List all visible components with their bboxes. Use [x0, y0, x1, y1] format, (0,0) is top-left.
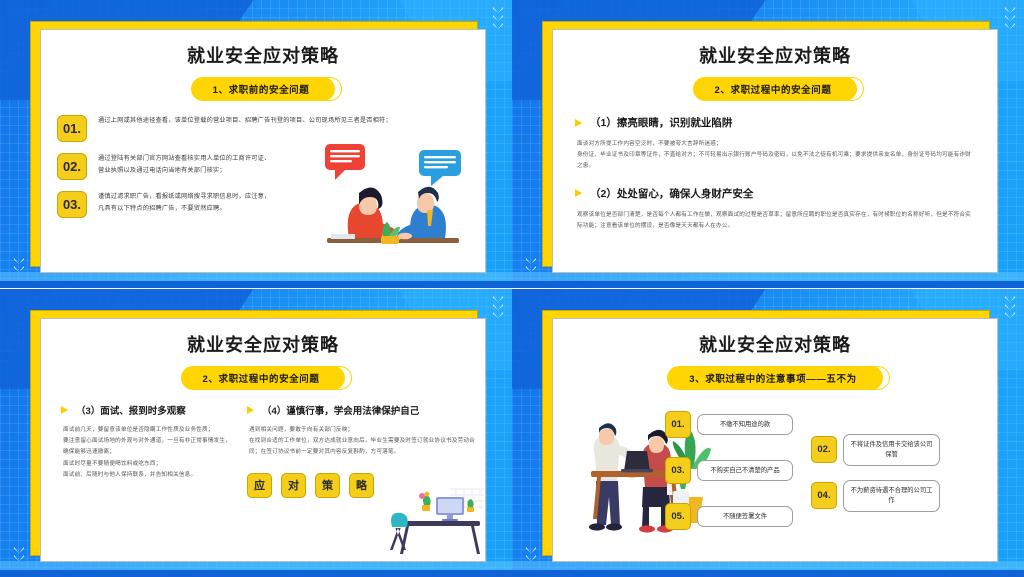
bullet-body: 观察该单位是否部门清楚，是否每个人都有工作在做，观察面试的过程是否草率；留意所应… — [577, 210, 973, 232]
chevron-down-icon — [526, 258, 536, 264]
item-number-badge: 02. — [57, 153, 87, 180]
chevron-down-icon — [493, 296, 503, 302]
char-box: 略 — [349, 473, 374, 498]
chevron-group-bottom-left — [14, 547, 24, 561]
background-band — [512, 281, 1024, 288]
item-text: 不将证件及信用卡交给该公司保管 — [843, 434, 940, 466]
item-number-badge: 01. — [665, 411, 691, 438]
two-column-layout: （3）面试、报到时多观察 面试前几天，要留意该单位是否隐瞒工作性质及业务性质； … — [61, 403, 485, 498]
item-text: 谨慎过滤求职广告，看报纸或网络搜寻求职信息时，应注意，凡具有以下特点的招聘广告，… — [98, 191, 273, 215]
bullet-heading-text: （1）擦亮眼睛，识别就业陷阱 — [590, 115, 732, 130]
bullet-body: 面试前几天，要留意该单位是否隐瞒工作性质及业务性质； 要注意留心面试场地的外观与… — [63, 425, 233, 481]
section-pill-wrap: 3、求职过程中的注意事项——五不为 — [553, 366, 997, 390]
char-box: 策 — [315, 473, 340, 498]
background-band-light — [512, 272, 1024, 281]
bullet-heading: （3）面试、报到时多观察 — [61, 403, 233, 417]
bullet-body: 面谈对方所提工作内容空泛时，不要被夸大言辞所迷惑； 身份证、毕业证书及印章等证件… — [577, 139, 973, 173]
chevron-down-icon — [14, 547, 24, 553]
background-band — [512, 570, 1024, 577]
triangle-bullet-icon — [61, 406, 68, 414]
chevron-down-icon — [526, 266, 536, 272]
bullet-heading: （1）擦亮眼睛，识别就业陷阱 — [575, 115, 997, 130]
section-badge: 1、求职前的安全问题 — [191, 77, 336, 101]
slide-card: 就业安全应对策略 2、求职过程中的安全问题 （3）面试、报到时多观察 面试前几天… — [40, 318, 486, 562]
item-text: 通过上网或其他途径查看，该单位登载的营业项目、招聘广告刊登的项目、公司现场所见三… — [98, 115, 438, 127]
section-badge: 2、求职过程中的安全问题 — [181, 366, 346, 390]
chevron-down-icon — [1005, 304, 1015, 310]
section-badge: 2、求职过程中的安全问题 — [693, 77, 858, 101]
bullet-heading-text: （2）处处留心，确保人身财产安全 — [590, 186, 753, 201]
list-item: 03. 不购买自己不清楚的产品 — [665, 457, 793, 484]
background-band-light — [512, 561, 1024, 570]
chevron-group-top-right — [493, 296, 503, 318]
slide-4: 就业安全应对策略 3、求职过程中的注意事项——五不为 — [512, 289, 1024, 577]
chevron-down-icon — [493, 7, 503, 13]
item-text: 不缴不知用途的款 — [697, 414, 793, 436]
item-text: 不为薪资待遇不合理的公司工作 — [843, 480, 940, 512]
two-people-chat-bubbles-illustration — [319, 138, 469, 253]
chevron-group-top-right — [1005, 7, 1015, 29]
chevron-group-top-right — [1005, 296, 1015, 318]
column-right: （4）谨慎行事，学会用法律保护自己 遇到相关问题，要敢于向有关部门反映； 在找到… — [247, 403, 479, 498]
bullet-heading: （2）处处留心，确保人身财产安全 — [575, 186, 997, 201]
chevron-down-icon — [493, 312, 503, 318]
background-band-light — [0, 272, 512, 281]
item-number-badge: 01. — [57, 115, 87, 142]
chevron-down-icon — [1005, 296, 1015, 302]
list-item: 02. 不将证件及信用卡交给该公司保管 — [811, 434, 940, 466]
chevron-down-icon — [1005, 7, 1015, 13]
item-text: 不购买自己不清楚的产品 — [697, 460, 793, 482]
item-text: 通过登陆有关部门官方网站查看核实用人单位的工商许可证、营业执照以及通过电话向当地… — [98, 153, 273, 177]
char-box: 应 — [247, 473, 272, 498]
slide-grid: 就业安全应对策略 1、求职前的安全问题 01. 通过上网或其他途径查看，该单位登… — [0, 0, 1024, 577]
list-item: 05. 不随便签署文件 — [665, 503, 793, 530]
bullet-heading-text: （3）面试、报到时多观察 — [76, 403, 186, 417]
slide-2: 就业安全应对策略 2、求职过程中的安全问题 （1）擦亮眼睛，识别就业陷阱 面谈对… — [512, 0, 1024, 288]
page-title: 就业安全应对策略 — [41, 331, 485, 357]
five-no-list: 01. 不缴不知用途的款 02. 不将证件及信用卡交给该公司保管 03. 不购买… — [665, 409, 995, 559]
background-band — [0, 281, 512, 288]
chevron-down-icon — [14, 555, 24, 561]
bullet-heading: （4）谨慎行事，学会用法律保护自己 — [247, 403, 479, 417]
column-left: （3）面试、报到时多观察 面试前几天，要留意该单位是否隐瞒工作性质及业务性质； … — [61, 403, 233, 498]
chevron-group-bottom-left — [526, 547, 536, 561]
desk-computer-chair-illustration — [386, 487, 486, 559]
chevron-group-bottom-left — [526, 258, 536, 272]
bullet-heading-text: （4）谨慎行事，学会用法律保护自己 — [262, 403, 419, 417]
chevron-down-icon — [14, 266, 24, 272]
page-title: 就业安全应对策略 — [553, 331, 997, 357]
chevron-down-icon — [526, 555, 536, 561]
section-pill-wrap: 2、求职过程中的安全问题 — [41, 366, 485, 390]
slide-card: 就业安全应对策略 2、求职过程中的安全问题 （1）擦亮眼睛，识别就业陷阱 面谈对… — [552, 29, 998, 273]
bullet-body: 遇到相关问题，要敢于向有关部门反映； 在找到合适的工作单位，双方达成就业意向后，… — [249, 425, 479, 459]
triangle-bullet-icon — [247, 406, 254, 414]
chevron-down-icon — [493, 304, 503, 310]
page-title: 就业安全应对策略 — [41, 42, 485, 68]
item-number-badge: 05. — [665, 503, 691, 530]
section-badge: 3、求职过程中的注意事项——五不为 — [667, 366, 882, 390]
slide-card: 就业安全应对策略 1、求职前的安全问题 01. 通过上网或其他途径查看，该单位登… — [40, 29, 486, 273]
chevron-group-bottom-left — [14, 258, 24, 272]
item-text: 不随便签署文件 — [697, 506, 793, 528]
page-title: 就业安全应对策略 — [553, 42, 997, 68]
slide-card: 就业安全应对策略 3、求职过程中的注意事项——五不为 — [552, 318, 998, 562]
chevron-down-icon — [526, 547, 536, 553]
item-number-badge: 03. — [57, 191, 87, 218]
triangle-bullet-icon — [575, 189, 582, 197]
background-band — [0, 570, 512, 577]
list-item: 01. 不缴不知用途的款 — [665, 411, 793, 438]
chevron-down-icon — [1005, 312, 1015, 318]
chevron-down-icon — [1005, 23, 1015, 29]
bullet-block: （2）处处留心，确保人身财产安全 观察该单位是否部门清楚，是否每个人都有工作在做… — [575, 186, 997, 232]
bullet-block: （1）擦亮眼睛，识别就业陷阱 面谈对方所提工作内容空泛时，不要被夸大言辞所迷惑；… — [575, 115, 997, 173]
slide-1: 就业安全应对策略 1、求职前的安全问题 01. 通过上网或其他途径查看，该单位登… — [0, 0, 512, 288]
chevron-down-icon — [493, 15, 503, 21]
section-pill-wrap: 2、求职过程中的安全问题 — [553, 77, 997, 101]
chevron-down-icon — [1005, 15, 1015, 21]
list-item: 04. 不为薪资待遇不合理的公司工作 — [811, 480, 940, 512]
chevron-down-icon — [493, 23, 503, 29]
chevron-group-top-right — [493, 7, 503, 29]
char-box: 对 — [281, 473, 306, 498]
item-number-badge: 03. — [665, 457, 691, 484]
item-number-badge: 04. — [811, 482, 837, 509]
chevron-down-icon — [14, 258, 24, 264]
item-number-badge: 02. — [811, 436, 837, 463]
background-band-light — [0, 561, 512, 570]
slide-3: 就业安全应对策略 2、求职过程中的安全问题 （3）面试、报到时多观察 面试前几天… — [0, 289, 512, 577]
triangle-bullet-icon — [575, 119, 582, 127]
section-pill-wrap: 1、求职前的安全问题 — [41, 77, 485, 101]
